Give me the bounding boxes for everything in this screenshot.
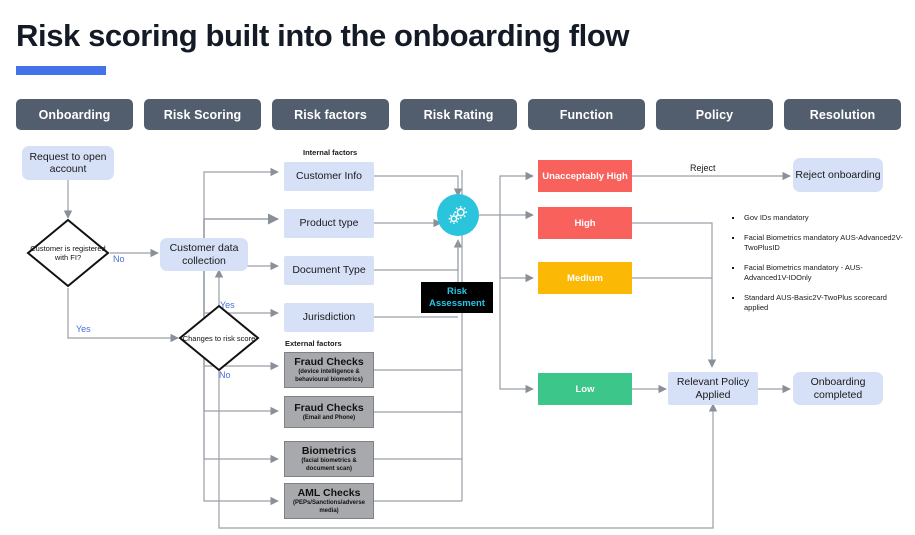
rating-label: Unacceptably High [542,171,628,182]
edge-label-yes-registered: Yes [76,324,91,334]
rating-label: Medium [567,273,603,284]
rating-label: Low [576,384,595,395]
node-label: Customer data collection [160,242,248,267]
rating-low[interactable]: Low [538,373,632,405]
node-request-to-open-account[interactable]: Request to open account [22,146,114,180]
decision-changes-to-risk-score[interactable]: Changes to risk score [178,304,260,372]
list-item: Facial Biometrics mandatory AUS-Advanced… [743,233,906,254]
edge-label-reject: Reject [690,163,716,173]
policy-notes-list: Gov IDs mandatory Facial Biometrics mand… [731,213,906,323]
node-fraud-checks-device[interactable]: Fraud Checks (device intelligence & beha… [284,352,374,388]
node-product-type[interactable]: Product type [284,209,374,238]
node-title: Biometrics [302,445,356,457]
decision-label: Changes to risk score [178,304,260,372]
rating-unacceptably-high[interactable]: Unacceptably High [538,160,632,192]
risk-engine-node[interactable] [437,194,479,236]
list-item: Gov IDs mandatory [743,213,906,224]
node-aml-checks[interactable]: AML Checks (PEPs/Sanctions/adverse media… [284,483,374,519]
node-jurisdiction[interactable]: Jurisdiction [284,303,374,332]
node-label: Onboarding completed [793,376,883,401]
rating-label: High [574,218,595,229]
decision-label: Customer is registered with FI? [26,218,110,288]
node-biometrics[interactable]: Biometrics (facial biometrics & document… [284,441,374,477]
list-item: Facial Biometrics mandatory - AUS-Advanc… [743,263,906,284]
gears-icon [445,202,471,228]
node-onboarding-completed[interactable]: Onboarding completed [793,372,883,405]
caption-external-factors: External factors [285,339,342,348]
node-title: Fraud Checks [294,356,363,368]
node-subtitle: (facial biometrics & document scan) [285,458,373,473]
node-document-type[interactable]: Document Type [284,256,374,285]
node-title: Fraud Checks [294,402,363,414]
decision-registered-with-fi[interactable]: Customer is registered with FI? [26,218,110,288]
node-label: Customer Info [296,170,362,183]
node-label: Relevant Policy Applied [668,376,758,401]
edge-label-yes-changes: Yes [220,300,235,310]
list-item: Standard AUS-Basic2V-TwoPlus scorecard a… [743,293,906,314]
node-fraud-checks-email-phone[interactable]: Fraud Checks (Email and Phone) [284,396,374,428]
node-label: Document Type [292,264,365,277]
rating-medium[interactable]: Medium [538,262,632,294]
node-label: Request to open account [22,151,114,176]
node-customer-info[interactable]: Customer Info [284,162,374,191]
node-reject-onboarding[interactable]: Reject onboarding [793,158,883,192]
edge-label-no-changes: No [219,370,231,380]
node-relevant-policy-applied[interactable]: Relevant Policy Applied [668,372,758,405]
rating-high[interactable]: High [538,207,632,239]
node-label: Risk Assessment [421,286,493,309]
node-label: Reject onboarding [795,169,880,182]
node-label: Jurisdiction [303,311,356,324]
node-customer-data-collection[interactable]: Customer data collection [160,238,248,271]
node-risk-assessment[interactable]: Risk Assessment [421,282,493,313]
caption-internal-factors: Internal factors [303,148,357,157]
node-title: AML Checks [298,487,361,499]
node-subtitle: (PEPs/Sanctions/adverse media) [285,500,373,515]
node-label: Product type [300,217,359,230]
node-subtitle: (device intelligence & behavioural biome… [285,369,373,384]
edge-label-no-registered: No [113,254,125,264]
node-subtitle: (Email and Phone) [300,415,358,423]
